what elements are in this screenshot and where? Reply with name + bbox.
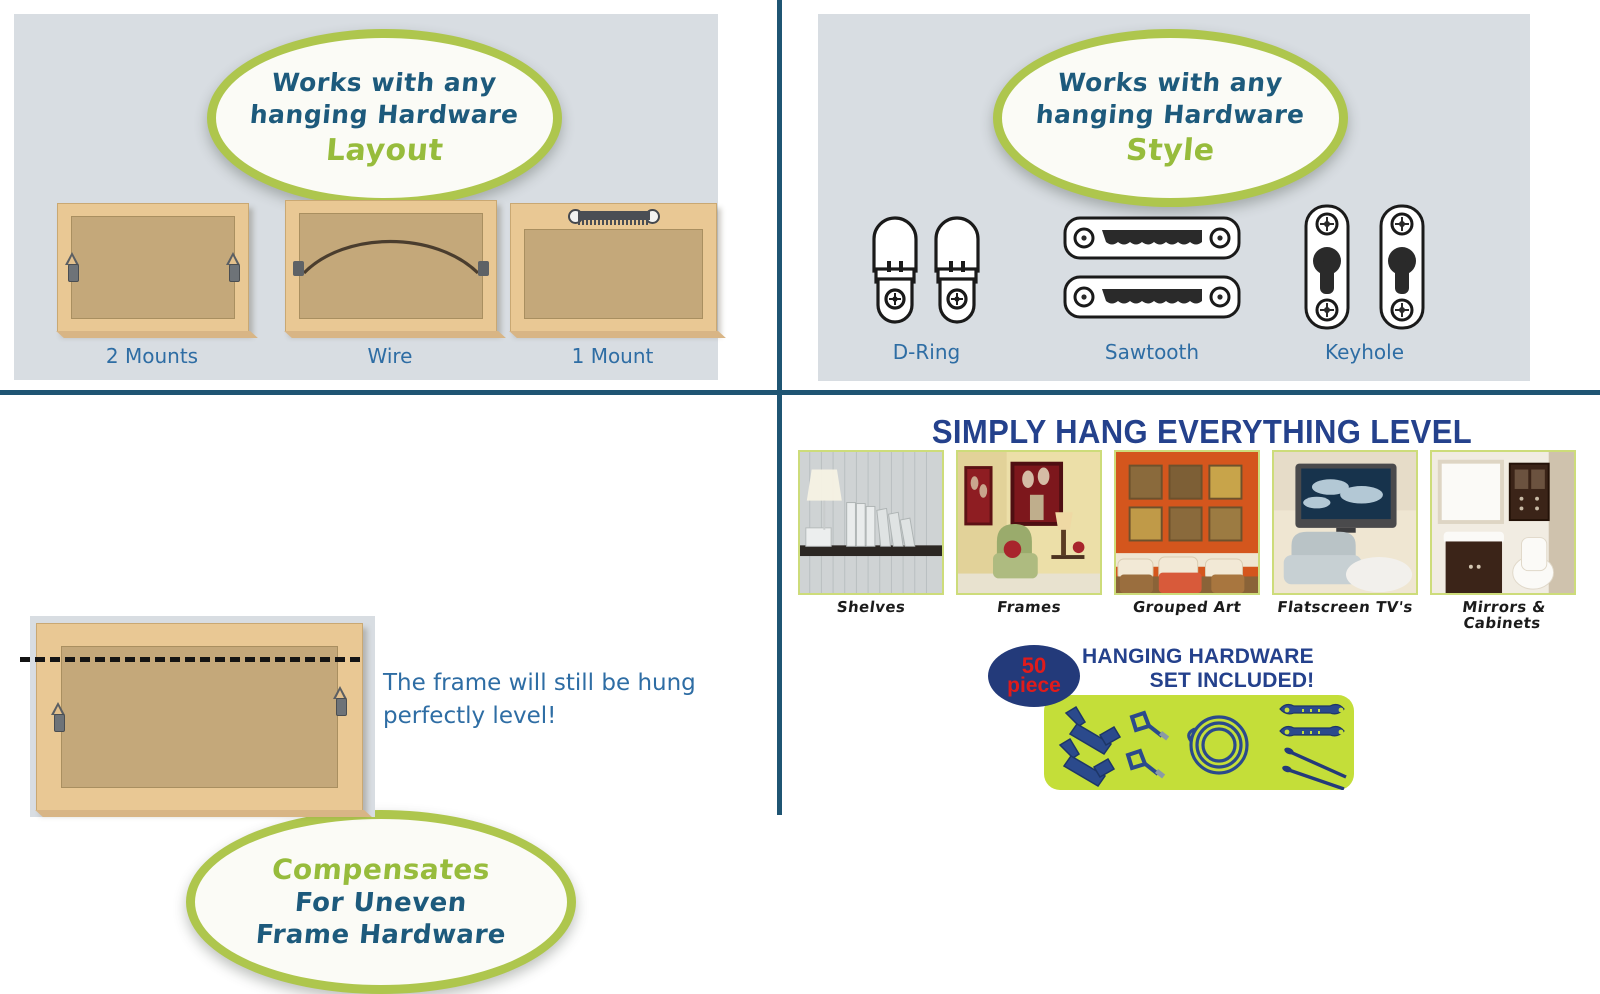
mount-hook-left-low — [51, 702, 66, 732]
frame-bottom-lip — [56, 331, 258, 338]
hardware-items-icon — [1044, 695, 1354, 790]
photo-cell: Shelves — [798, 450, 944, 610]
compensates-caption: The frame will still be hung perfectly l… — [383, 667, 755, 734]
wire-anchor-left — [293, 261, 304, 276]
keyhole-icon — [1302, 202, 1427, 332]
frame-bottom-lip — [284, 331, 506, 338]
infographic-sheet: Works with any hanging Hardware Layout 2… — [0, 0, 1600, 815]
layout-badge-line2: hanging Hardware — [249, 102, 520, 127]
panel-style: Works with any hanging Hardware Style — [782, 0, 1600, 390]
photo-strip: Shelves — [798, 450, 1588, 610]
frame-wire — [285, 200, 497, 332]
photo-cell: Grouped Art — [1114, 450, 1260, 610]
hardware-set-panel — [1044, 695, 1354, 790]
frame-one-mount — [510, 203, 717, 332]
badge-number: 50 — [1022, 656, 1046, 677]
photo-flatscreen-tv — [1272, 450, 1418, 595]
hardware-label-keyhole: Keyhole — [1282, 340, 1447, 364]
photo-mirrors-cabinets — [1430, 450, 1576, 595]
photo-frames — [956, 450, 1102, 595]
frame-label-one-mount: 1 Mount — [510, 344, 715, 368]
d-ring-icon — [860, 205, 992, 325]
frame-label-wire: Wire — [285, 344, 495, 368]
photo-shelves — [798, 450, 944, 595]
photo-caption: Flatscreen TV's — [1271, 600, 1419, 616]
photo-caption: Grouped Art — [1113, 600, 1261, 616]
layout-badge-line3: Layout — [325, 136, 445, 166]
frame-label-two-mounts: 2 Mounts — [57, 344, 247, 368]
frame-mat — [524, 229, 703, 319]
badge-word: piece — [1007, 676, 1061, 696]
frame-uneven-hardware — [36, 623, 363, 811]
photo-cell: Mirrors & Cabinets — [1430, 450, 1576, 610]
hardware-label-sawtooth: Sawtooth — [1062, 340, 1242, 364]
photo-cell: Flatscreen TV's — [1272, 450, 1418, 610]
photo-grouped-art — [1114, 450, 1260, 595]
photo-caption: Shelves — [797, 600, 945, 616]
vertical-divider — [777, 0, 782, 815]
hanging-wire-icon — [300, 223, 482, 281]
frame-two-mounts — [57, 203, 249, 332]
layout-badge-line1: Works with any — [271, 70, 498, 95]
mount-hook-left — [65, 252, 80, 282]
photo-cell: Frames — [956, 450, 1102, 610]
caption-line-2: perfectly level! — [383, 700, 755, 733]
wire-anchor-right — [478, 261, 489, 276]
fifty-piece-badge: 50 piece — [988, 645, 1080, 707]
sawtooth-hanger-icon — [568, 208, 660, 223]
style-badge-line3: Style — [1125, 136, 1216, 166]
hardware-title-line2: SET INCLUDED! — [1082, 669, 1382, 693]
panel-simply-hang: SIMPLY HANG EVERYTHING LEVEL — [782, 395, 1600, 815]
layout-badge: Works with any hanging Hardware Layout — [207, 29, 562, 207]
style-badge: Works with any hanging Hardware Style — [993, 29, 1348, 207]
compensates-badge-line1: Compensates — [271, 856, 491, 884]
panel-layout: Works with any hanging Hardware Layout 2… — [0, 0, 777, 390]
hardware-set-title: HANGING HARDWARE SET INCLUDED! — [1082, 645, 1382, 693]
caption-line-1: The frame will still be hung — [383, 667, 755, 700]
mount-hook-right — [226, 252, 241, 282]
level-reference-line — [20, 657, 360, 662]
style-badge-line1: Works with any — [1057, 70, 1284, 95]
photo-caption: Mirrors & Cabinets — [1428, 600, 1578, 632]
compensates-badge-line3: Frame Hardware — [255, 922, 507, 948]
hardware-label-d-ring: D-Ring — [844, 340, 1009, 364]
simply-hang-heading: SIMPLY HANG EVERYTHING LEVEL — [873, 413, 1531, 451]
frame-mat — [61, 646, 338, 788]
photo-caption: Frames — [955, 600, 1103, 616]
mount-hook-right-high — [333, 686, 348, 716]
panel-compensates: Compensates For Uneven Frame Hardware Th… — [0, 395, 777, 815]
frame-mat — [71, 216, 235, 319]
hardware-title-line1: HANGING HARDWARE — [1082, 645, 1314, 668]
compensates-badge: Compensates For Uneven Frame Hardware — [186, 810, 576, 994]
sawtooth-icon — [1062, 215, 1242, 323]
compensates-badge-line2: For Uneven — [294, 890, 468, 916]
frame-bottom-lip — [509, 331, 726, 338]
frame-bottom-lip — [35, 810, 372, 817]
horizontal-divider — [0, 390, 1600, 395]
style-badge-line2: hanging Hardware — [1035, 102, 1306, 127]
